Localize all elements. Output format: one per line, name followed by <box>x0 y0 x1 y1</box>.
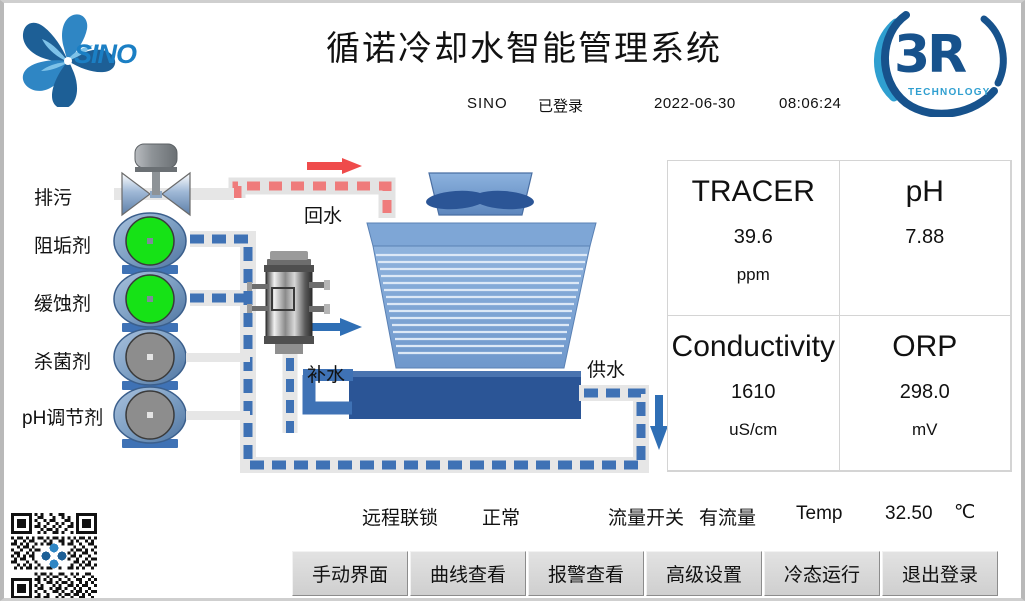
qr-code <box>11 513 97 599</box>
header-user: SINO <box>467 95 508 112</box>
measurement-name: pH <box>906 175 944 210</box>
measurement-value: 39.6 <box>734 226 773 249</box>
button-bar: 手动界面 曲线查看 报警查看 高级设置 冷态运行 退出登录 <box>292 551 998 596</box>
hmi-screen: SINO 3R TECHNOLOGY 循诺冷却水智能管理系统 SINO 已登录 … <box>0 0 1025 601</box>
label-ph-adjuster: pH调节剂 <box>22 403 103 430</box>
label-return-water: 回水 <box>304 201 342 228</box>
label-corrosion-inhibitor: 缓蚀剂 <box>34 289 91 316</box>
header-time: 08:06:24 <box>779 95 841 112</box>
label-blowdown: 排污 <box>34 183 72 210</box>
measurement-panel: TRACER 39.6 ppm pH 7.88 Conductivity 161… <box>667 160 1012 472</box>
temp-unit: ℃ <box>954 501 975 524</box>
label-supply-water: 供水 <box>587 355 625 382</box>
measurement-ph: pH 7.88 <box>839 160 1012 316</box>
temp-label: Temp <box>796 503 842 525</box>
cold-start-button[interactable]: 冷态运行 <box>764 551 880 596</box>
label-biocide: 杀菌剂 <box>34 347 91 374</box>
alarm-view-button[interactable]: 报警查看 <box>528 551 644 596</box>
measurement-value: 1610 <box>731 381 776 404</box>
3r-logo: 3R TECHNOLOGY <box>866 5 1018 117</box>
measurement-name: ORP <box>892 330 957 365</box>
remote-interlock-label: 远程联锁 <box>362 503 438 530</box>
measurement-unit: uS/cm <box>729 420 777 440</box>
flow-switch-label: 流量开关 <box>608 503 684 530</box>
measurement-name: TRACER <box>692 175 815 210</box>
label-antiscalant: 阻垢剂 <box>34 231 91 258</box>
advanced-settings-button[interactable]: 高级设置 <box>646 551 762 596</box>
trend-view-button[interactable]: 曲线查看 <box>410 551 526 596</box>
header-date: 2022-06-30 <box>654 95 736 112</box>
page-title: 循诺冷却水智能管理系统 <box>244 21 804 70</box>
manual-interface-button[interactable]: 手动界面 <box>292 551 408 596</box>
pump-antiscalant <box>114 213 186 274</box>
pump-ph-adjuster <box>114 387 250 448</box>
sino-logo: SINO <box>12 11 162 107</box>
measurement-value: 298.0 <box>900 381 950 404</box>
logout-button[interactable]: 退出登录 <box>882 551 998 596</box>
label-makeup-water: 补水 <box>307 360 345 387</box>
temp-value: 32.50 <box>885 503 933 525</box>
3r-wordmark: 3R <box>894 25 964 85</box>
measurement-unit: mV <box>912 420 938 440</box>
pump-corrosion-inhibitor <box>114 271 186 332</box>
measurement-orp: ORP 298.0 mV <box>839 315 1012 471</box>
measurement-unit: ppm <box>737 265 770 285</box>
flow-switch-value: 有流量 <box>699 503 756 530</box>
measurement-name: Conductivity <box>672 330 835 365</box>
measurement-value: 7.88 <box>905 226 944 249</box>
remote-interlock-value: 正常 <box>482 503 520 530</box>
header-login-status: 已登录 <box>538 95 583 116</box>
measurement-conductivity: Conductivity 1610 uS/cm <box>667 315 840 471</box>
pump-biocide <box>114 329 250 390</box>
measurement-tracer: TRACER 39.6 ppm <box>667 160 840 316</box>
sino-wordmark: SINO <box>74 39 136 70</box>
3r-tagline: TECHNOLOGY <box>908 87 991 98</box>
